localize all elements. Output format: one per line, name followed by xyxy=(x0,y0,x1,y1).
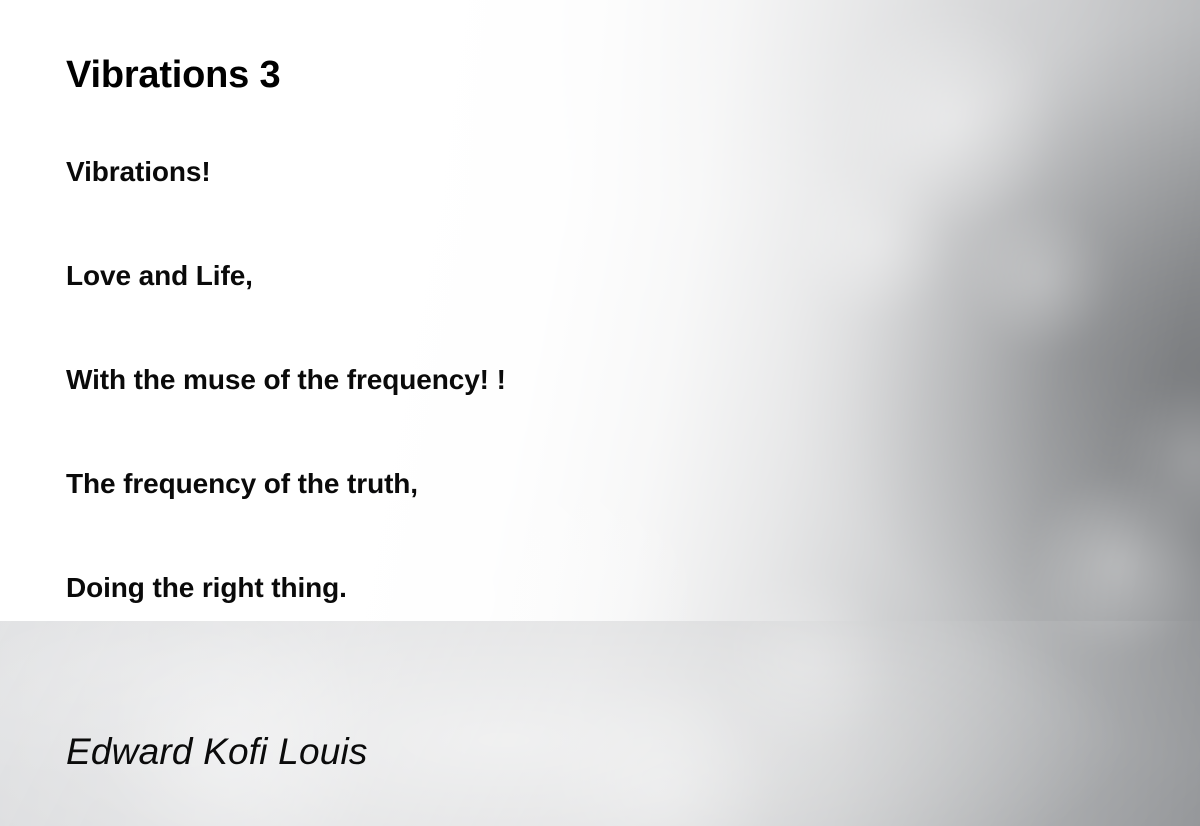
poem-line: The frequency of the truth, xyxy=(66,467,886,571)
poem-line: Vibrations! xyxy=(66,155,886,259)
poem-body: Vibrations! Love and Life, With the muse… xyxy=(66,155,886,605)
poem-title: Vibrations 3 xyxy=(66,52,280,98)
poem-card: Vibrations 3 Vibrations! Love and Life, … xyxy=(0,0,1200,826)
poem-line: Doing the right thing. xyxy=(66,571,886,605)
poem-line: With the muse of the frequency! ! xyxy=(66,363,886,467)
poem-line: Love and Life, xyxy=(66,259,886,363)
author-name: Edward Kofi Louis xyxy=(66,729,368,775)
card-content: Vibrations 3 Vibrations! Love and Life, … xyxy=(0,0,1200,826)
